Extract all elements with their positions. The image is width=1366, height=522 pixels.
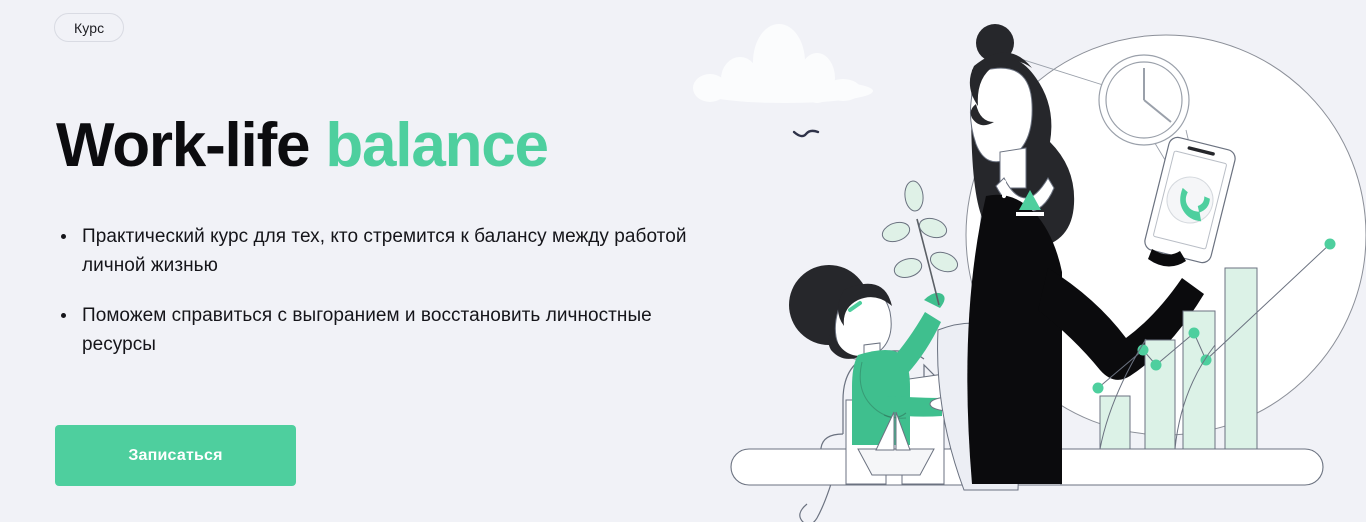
enroll-button[interactable]: Записаться — [55, 425, 296, 486]
cloud-icon — [693, 24, 873, 103]
bar-chart — [1100, 268, 1257, 449]
smartphone-icon — [1143, 135, 1237, 264]
list-item: Поможем справиться с выгоранием и восста… — [56, 301, 728, 359]
line-chart-point — [1151, 360, 1162, 371]
line-chart-point — [1189, 328, 1200, 339]
line-chart-point — [1138, 345, 1149, 356]
woman-figure — [938, 24, 1204, 490]
phone-call-icon — [1162, 172, 1218, 228]
cat-outline — [800, 351, 977, 522]
line-chart-point — [1325, 239, 1336, 250]
line-chart-point — [1093, 383, 1104, 394]
course-badge[interactable]: Курс — [54, 13, 124, 42]
list-item: Практический курс для тех, кто стремится… — [56, 222, 728, 280]
connector-lines — [971, 48, 1206, 330]
page-title: Work-life balance — [56, 109, 548, 183]
bird-icon — [794, 131, 818, 136]
page-title-part1: Work-life — [56, 111, 309, 180]
line-chart — [1093, 239, 1336, 450]
clock-icon — [1099, 55, 1189, 145]
hand-holding-phone — [1148, 249, 1186, 267]
hero-content: Курс Work-life balance Практический курс… — [0, 0, 720, 522]
page-title-part2: balance — [325, 111, 548, 180]
paper-boat — [858, 412, 934, 475]
work-life-balance-illustration — [686, 0, 1366, 522]
plant-sprig — [880, 180, 960, 305]
circle-backdrop — [966, 35, 1366, 435]
child-figure — [789, 265, 970, 484]
landing-hero: Курс Work-life balance Практический курс… — [0, 0, 1366, 522]
line-chart-point — [1201, 355, 1212, 366]
feature-list: Практический курс для тех, кто стремится… — [56, 222, 728, 359]
platform-bar — [731, 449, 1323, 485]
